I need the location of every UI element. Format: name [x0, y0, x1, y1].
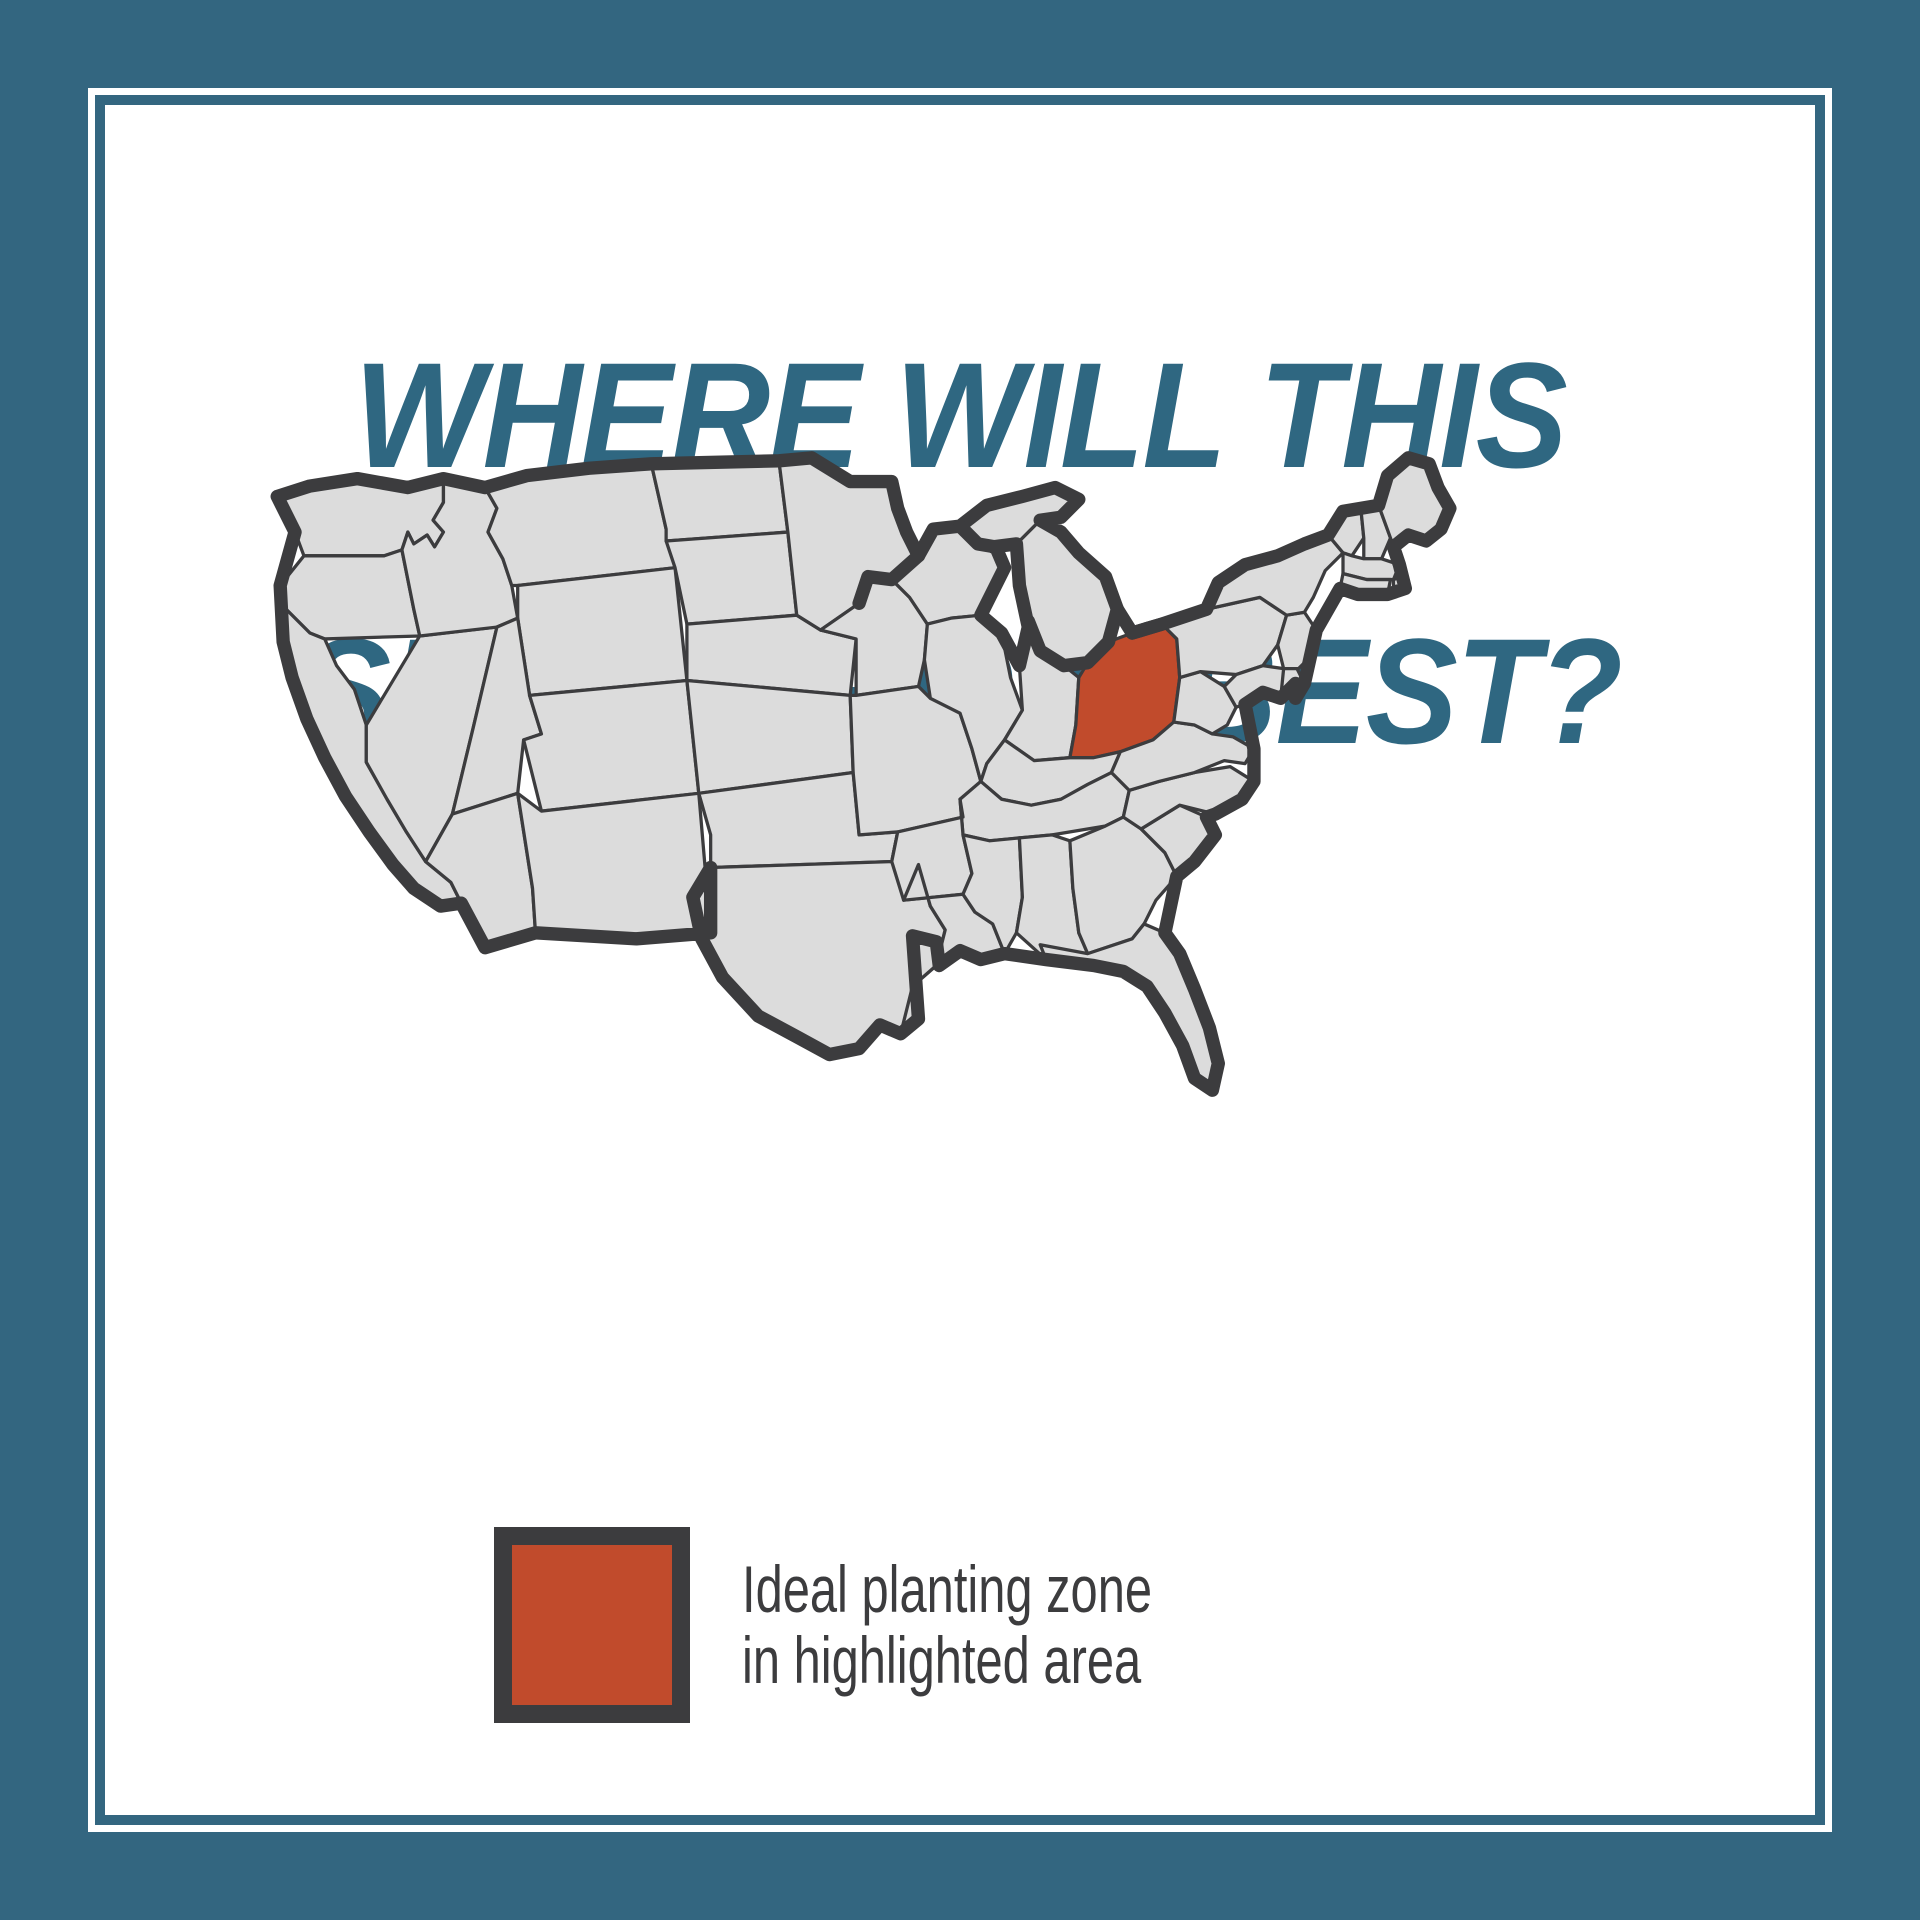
state-south-dakota [666, 532, 797, 624]
legend: Ideal planting zone in highlighted area [494, 1527, 1296, 1723]
state-new-mexico [518, 793, 711, 938]
us-map-svg [213, 443, 1713, 1393]
state-west-virginia [1174, 672, 1236, 734]
state-colorado [524, 681, 699, 812]
legend-label: Ideal planting zone in highlighted area [742, 1554, 1152, 1695]
us-map [213, 443, 1713, 1393]
content-canvas: WHERE WILL THIS SEED GROW BEST? [113, 113, 1807, 1807]
poster-root: WHERE WILL THIS SEED GROW BEST? [0, 0, 1920, 1920]
state-wyoming [518, 568, 687, 696]
legend-label-line-1: Ideal planting zone [742, 1554, 1152, 1625]
legend-color-swatch [494, 1527, 690, 1723]
legend-label-line-2: in highlighted area [742, 1625, 1152, 1696]
state-north-dakota [651, 461, 788, 541]
